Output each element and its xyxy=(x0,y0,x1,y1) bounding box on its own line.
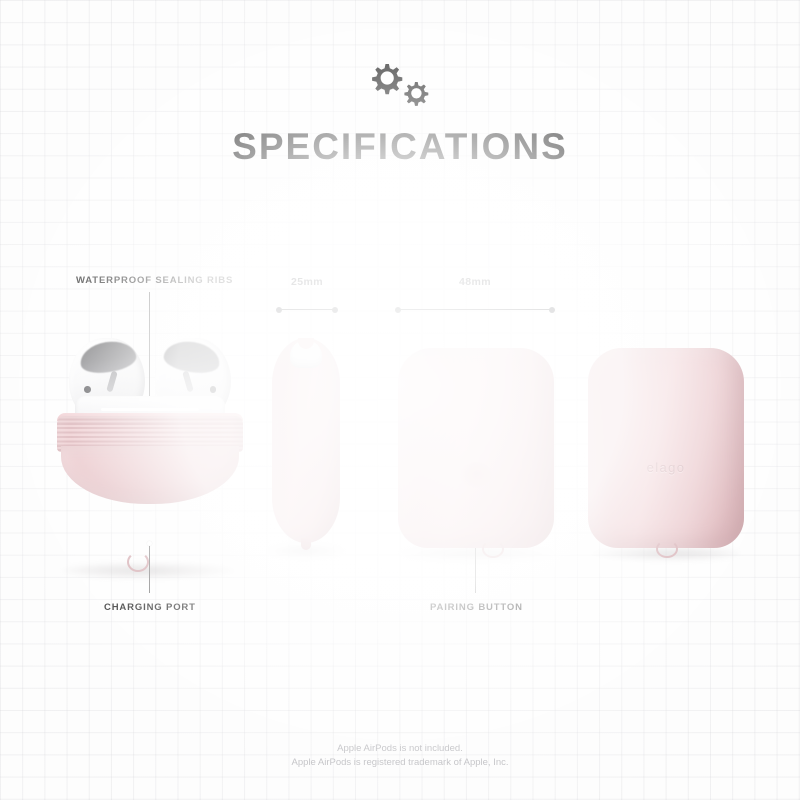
dimension-line-48mm xyxy=(395,305,555,314)
drop-shadow xyxy=(61,562,239,579)
airpod-sensor-dot xyxy=(210,386,217,393)
dimension-label-25mm: 25mm xyxy=(276,276,338,288)
dimension-label-48mm: 48mm xyxy=(395,276,555,288)
page-title: SPECIFICATIONS xyxy=(0,126,800,168)
product-front-view xyxy=(55,330,245,575)
dimension-rule xyxy=(279,309,335,310)
case-body xyxy=(588,348,744,548)
drop-shadow xyxy=(400,546,552,561)
keychain-loop xyxy=(482,540,504,558)
footer-line-1: Apple AirPods is not included. xyxy=(0,742,800,756)
footer-line-2: Apple AirPods is registered trademark of… xyxy=(0,756,800,770)
product-logo-view: elago xyxy=(588,348,744,570)
charging-case-seam xyxy=(101,408,199,411)
brand-logo: elago xyxy=(588,460,744,475)
case-body xyxy=(272,338,340,543)
dimension-line-25mm xyxy=(276,305,338,314)
label-waterproof-sealing-ribs: WATERPROOF SEALING RIBS xyxy=(76,275,233,286)
charging-port xyxy=(301,538,311,550)
specifications-page: SPECIFICATIONS WATERPROOF SEALING RIBS C… xyxy=(0,0,800,800)
label-charging-port: CHARGING PORT xyxy=(104,602,196,613)
dimension-endpoint-right xyxy=(549,307,555,313)
keychain-loop xyxy=(656,540,678,558)
footer-disclaimer: Apple AirPods is not included. Apple Air… xyxy=(0,742,800,770)
airpod-sensor-dot xyxy=(84,386,91,393)
label-pairing-button: PAIRING BUTTON xyxy=(430,602,523,613)
dimension-endpoint-right xyxy=(332,307,338,313)
case-body xyxy=(398,348,554,548)
keychain-loop xyxy=(127,552,149,572)
dimension-rule xyxy=(398,309,552,310)
pairing-button xyxy=(460,462,492,488)
case-flap xyxy=(61,446,239,504)
product-side-view xyxy=(272,338,340,568)
gears-icon xyxy=(0,62,800,114)
product-back-view xyxy=(398,348,554,570)
